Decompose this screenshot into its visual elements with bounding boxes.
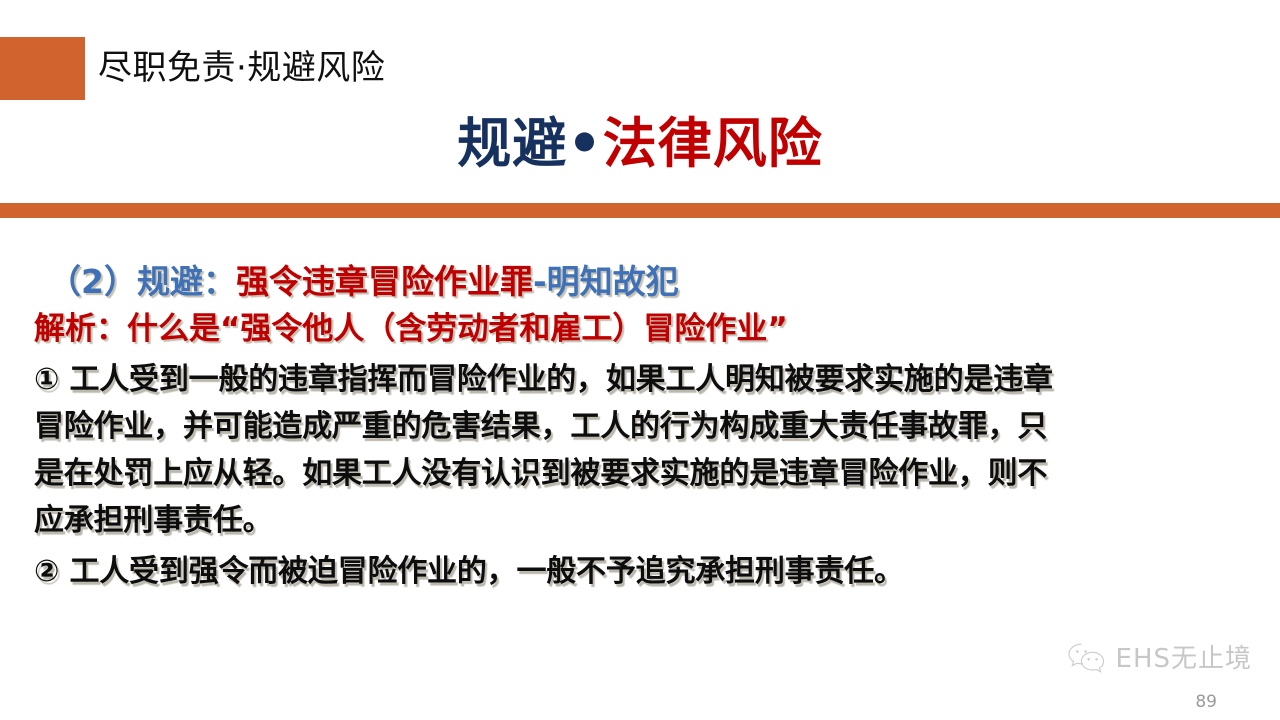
- section-heading-prefix: （2）规避：: [48, 262, 236, 301]
- paragraph-one-line-2: 冒险作业，并可能造成严重的危害结果，工人的行为构成重大责任事故罪，只: [34, 403, 1260, 450]
- section-heading-primary: （2）规避：强令违章冒险作业罪-明知故犯: [34, 258, 1260, 306]
- slide-body: （2）规避：强令违章冒险作业罪-明知故犯 解析：什么是“强令他人（含劳动者和雇工…: [34, 258, 1260, 595]
- paragraph-one: ① 工人受到一般的违章指挥而冒险作业的，如果工人明知被要求实施的是违章 冒险作业…: [34, 356, 1260, 544]
- section-heading-secondary: 解析：什么是“强令他人（含劳动者和雇工）冒险作业”: [34, 306, 1260, 352]
- paragraph-one-line-3: 是在处罚上应从轻。如果工人没有认识到被要求实施的是违章冒险作业，则不: [34, 450, 1260, 497]
- page-title-red-part: 法律风险: [603, 112, 823, 175]
- wechat-icon: [1066, 642, 1108, 676]
- watermark-label: EHS无止境: [1116, 644, 1252, 674]
- page-title: 规避•法律风险: [0, 108, 1280, 180]
- header-title: 尽职免责·规避风险: [98, 40, 385, 96]
- paragraph-two: ② 工人受到强令而被迫冒险作业的，一般不予追究承担刑事责任。: [34, 548, 1260, 595]
- section-heading-emphasis: 强令违章冒险作业罪: [236, 262, 533, 301]
- paragraph-one-line-1: ① 工人受到一般的违章指挥而冒险作业的，如果工人明知被要求实施的是违章: [34, 356, 1260, 403]
- section-heading-suffix: -明知故犯: [533, 262, 679, 301]
- page-number: 89: [1195, 692, 1217, 712]
- orange-divider: [0, 203, 1280, 218]
- header-accent-block: [0, 37, 85, 100]
- page-title-blue-part: 规避•: [457, 112, 603, 175]
- watermark: EHS无止境: [1066, 642, 1252, 676]
- paragraph-two-line-1: ② 工人受到强令而被迫冒险作业的，一般不予追究承担刑事责任。: [34, 548, 1260, 595]
- paragraph-one-line-4: 应承担刑事责任。: [34, 497, 1260, 544]
